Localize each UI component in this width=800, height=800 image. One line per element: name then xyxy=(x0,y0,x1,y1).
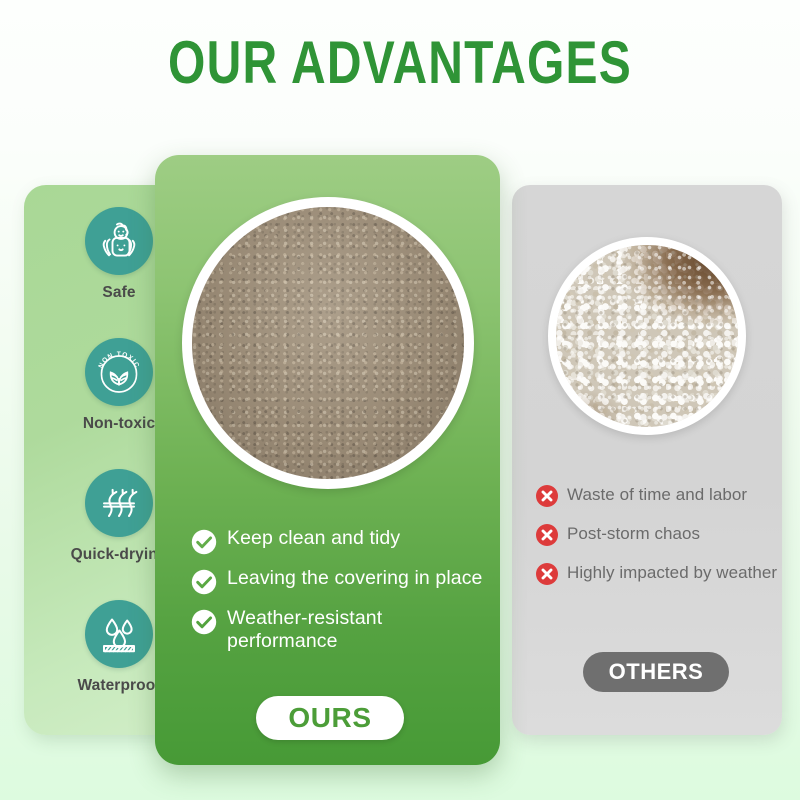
drawback-text: Post-storm chaos xyxy=(567,522,700,545)
ours-badge-label: OURS xyxy=(288,702,371,734)
photo-inner xyxy=(556,245,738,427)
list-item: Leaving the covering in place xyxy=(191,567,491,595)
drawback-text: Highly impacted by weather xyxy=(567,561,777,584)
gravel-texture xyxy=(556,245,738,427)
list-item: Highly impacted by weather xyxy=(535,561,779,586)
list-item: Weather-resistant performance xyxy=(191,607,491,653)
drawback-text: Waste of time and labor xyxy=(567,483,747,506)
fine-gravel-photo xyxy=(182,197,474,489)
non-toxic-leaf-icon: NON TOXIC xyxy=(85,338,153,406)
quick-drying-airflow-icon xyxy=(85,469,153,537)
list-item: Waste of time and labor xyxy=(535,483,779,508)
waterproof-droplets-icon xyxy=(85,600,153,668)
feature-label: Quick-drying xyxy=(71,546,168,564)
others-badge-label: OTHERS xyxy=(609,659,704,685)
white-gravel-with-dirt-photo xyxy=(548,237,746,435)
ours-badge: OURS xyxy=(256,696,404,740)
svg-text:NON TOXIC: NON TOXIC xyxy=(97,351,140,369)
page-title: OUR ADVANTAGES xyxy=(80,32,720,94)
list-item: Post-storm chaos xyxy=(535,522,779,547)
check-circle-icon xyxy=(191,529,217,555)
others-card: Waste of time and labor Post-storm chaos… xyxy=(512,185,782,735)
gravel-texture xyxy=(192,207,464,479)
advantages-infographic: OUR ADVANTAGES xyxy=(0,0,800,800)
feature-label: Safe xyxy=(102,284,135,302)
x-circle-icon xyxy=(535,523,559,547)
drawbacks-list: Waste of time and labor Post-storm chaos… xyxy=(535,483,779,586)
feature-label: Non-toxic xyxy=(83,415,155,433)
check-circle-icon xyxy=(191,569,217,595)
feature-label: Waterproof xyxy=(77,677,160,695)
check-circle-icon xyxy=(191,609,217,635)
others-badge: OTHERS xyxy=(583,652,729,692)
x-circle-icon xyxy=(535,562,559,586)
photo-inner xyxy=(192,207,464,479)
benefit-text: Keep clean and tidy xyxy=(227,527,400,550)
baby-protected-icon xyxy=(85,207,153,275)
x-circle-icon xyxy=(535,484,559,508)
list-item: Keep clean and tidy xyxy=(191,527,491,555)
benefit-text: Weather-resistant performance xyxy=(227,607,491,653)
benefits-list: Keep clean and tidy Leaving the covering… xyxy=(191,527,491,653)
benefit-text: Leaving the covering in place xyxy=(227,567,483,590)
ours-card: Keep clean and tidy Leaving the covering… xyxy=(155,155,500,765)
